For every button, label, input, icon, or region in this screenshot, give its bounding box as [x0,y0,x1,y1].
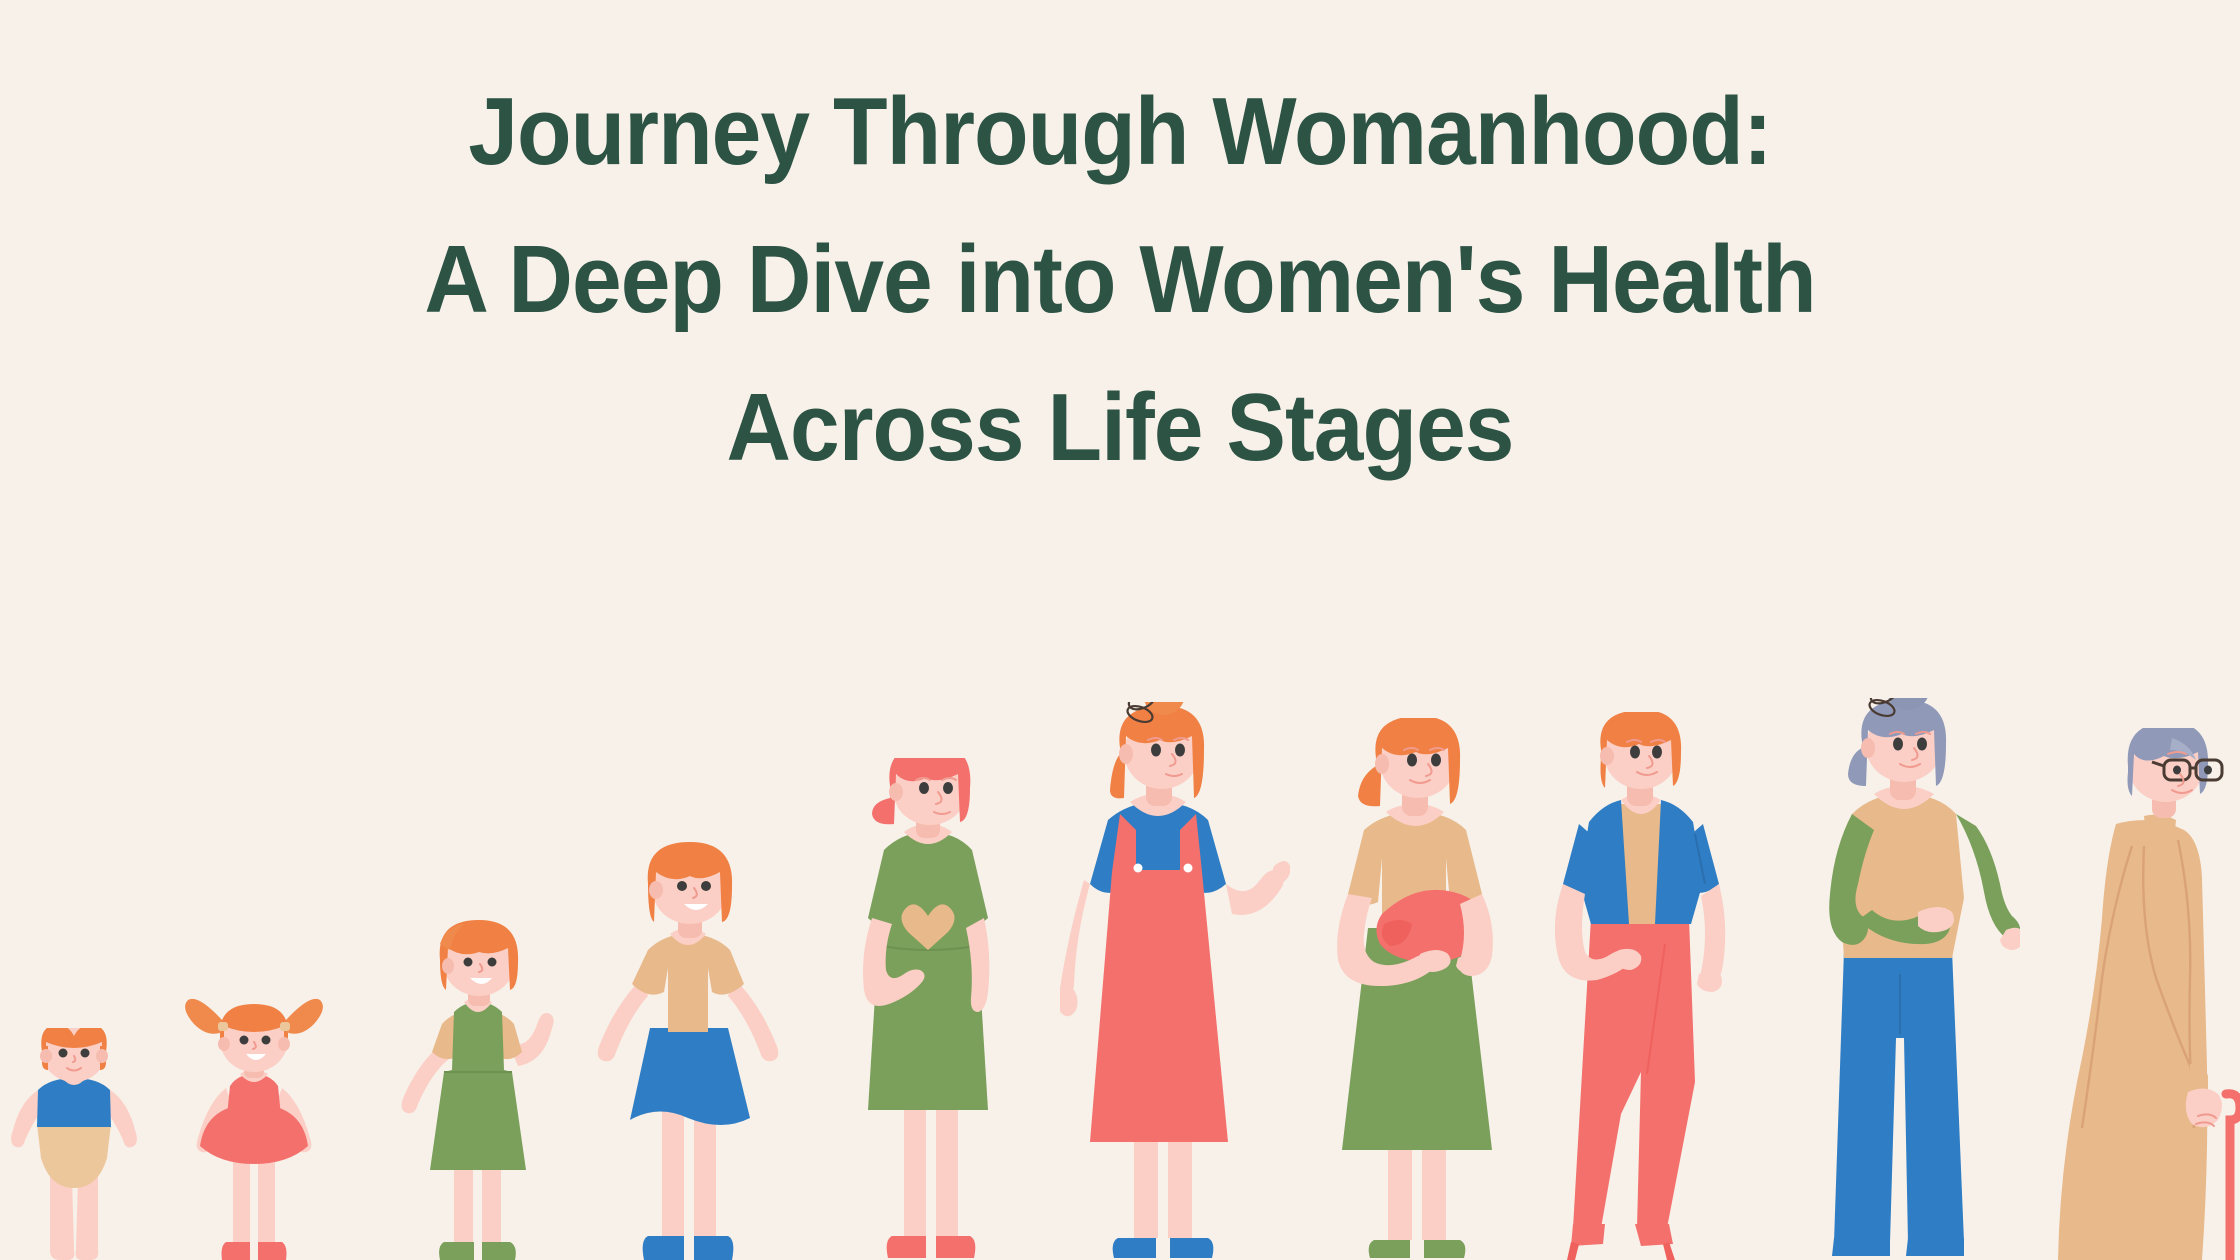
mature-woman-illustration [1800,698,2020,1260]
toddler-illustration [178,978,328,1260]
professional-woman-illustration [1545,712,1735,1260]
figure-professional-woman [1545,712,1735,1260]
page-title: Journey Through Womanhood: A Deep Dive i… [0,58,2240,502]
page-title-line-1: Journey Through Womanhood: [78,58,2161,206]
young-girl-illustration [392,902,562,1260]
page-title-line-3: Across Life Stages [78,354,2161,502]
teenager-illustration [838,758,1018,1260]
figure-teenager [838,758,1018,1260]
pre-teen-illustration [586,828,786,1260]
figure-pre-teen [586,828,786,1260]
page-title-line-2: A Deep Dive into Women's Health [78,206,2161,354]
figure-toddler [178,978,328,1260]
figure-young-girl [392,902,562,1260]
poster-canvas: Journey Through Womanhood: A Deep Dive i… [0,0,2240,1260]
figure-elderly-woman [2040,728,2240,1260]
figure-infant [10,1028,140,1260]
new-mother-illustration [1320,718,1520,1260]
figure-young-adult [1060,702,1290,1260]
figure-mature-woman [1800,698,2020,1260]
elderly-woman-illustration [2040,728,2240,1260]
life-stages-illustration [0,580,2240,1260]
young-adult-illustration [1060,702,1290,1260]
figure-new-mother [1320,718,1520,1260]
infant-illustration [10,1028,140,1260]
